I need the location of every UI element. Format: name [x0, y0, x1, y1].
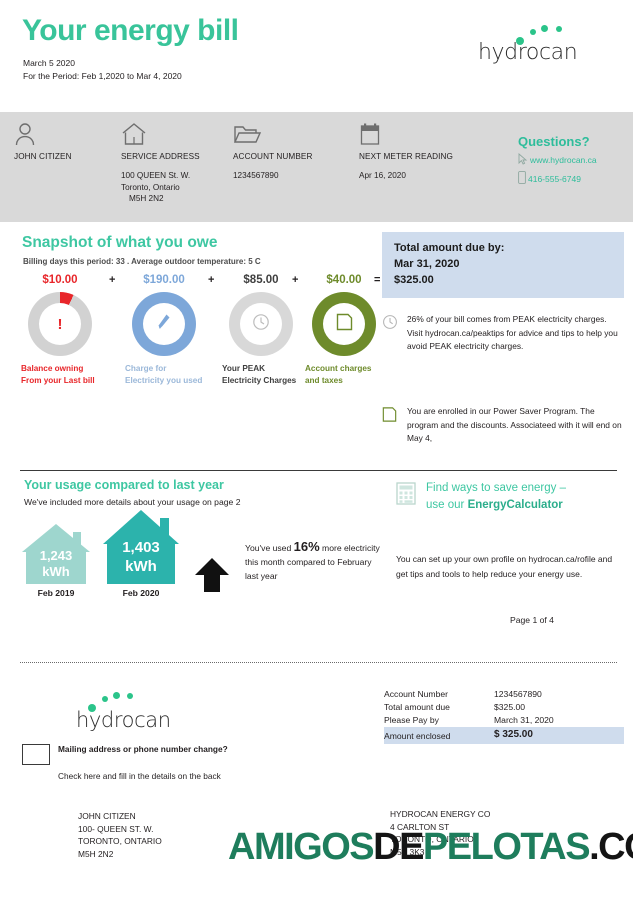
- account-number-column: ACCOUNT NUMBER 1234567890: [233, 122, 313, 182]
- account-number-value: 1234567890: [233, 170, 313, 182]
- service-address-line1: 100 QUEEN St. W.: [121, 170, 200, 182]
- calculator-body-text: You can set up your own profile on hydro…: [396, 552, 621, 581]
- logo-dot-4: [556, 26, 562, 32]
- table-row: Total amount due $325.00: [384, 701, 624, 714]
- customer-name: JOHN CITIZEN: [14, 152, 72, 161]
- address-line: JOHN CITIZEN: [78, 810, 162, 823]
- logo-dot-3: [541, 25, 548, 32]
- service-address-line2: Toronto, Ontario: [121, 182, 200, 194]
- mobile-phone-icon: [518, 171, 526, 186]
- logo-dot-4: [127, 693, 133, 699]
- calculator-line1: Find ways to save energy –: [426, 480, 566, 497]
- charge-item-electricity: $190.00 Charge for Electricity you used: [122, 274, 206, 386]
- house-bar-2019: 1,243 kWh Feb 2019: [18, 522, 94, 600]
- total-due-amount: $325.00: [394, 272, 624, 288]
- charge-label: Balance owning From your Last bill: [18, 363, 102, 386]
- donut-center: [143, 303, 185, 345]
- service-address-line3: M5H 2N2: [121, 193, 200, 205]
- snapshot-title: Snapshot of what you owe: [22, 234, 217, 252]
- service-address-label: SERVICE ADDRESS: [121, 152, 200, 161]
- address-change-checkbox[interactable]: [22, 744, 50, 765]
- row-label: Account Number: [384, 688, 494, 701]
- meter-reading-value: Apr 16, 2020: [359, 170, 453, 182]
- power-saver-note: You are enrolled in our Power Saver Prog…: [382, 405, 624, 446]
- address-change-title: Mailing address or phone number change?: [58, 744, 238, 756]
- peak-note-text: 26% of your bill comes from PEAK electri…: [407, 313, 624, 354]
- logo-wordmark: hydrocan: [478, 40, 577, 65]
- operator-plus-2: +: [208, 274, 214, 286]
- donut-center: [323, 303, 365, 345]
- house-caption-2019: Feb 2019: [18, 588, 94, 598]
- address-change-subtitle: Check here and fill in the details on th…: [58, 771, 243, 783]
- row-value: March 31, 2020: [494, 714, 554, 727]
- charge-label: Your PEAK Electricity Charges: [219, 363, 303, 386]
- hydrocan-logo-stub: hydrocan: [76, 682, 206, 732]
- bill-period: For the Period: Feb 1,2020 to Mar 4, 202…: [23, 71, 182, 81]
- folder-icon: [233, 122, 313, 146]
- operator-plus-3: +: [292, 274, 298, 286]
- home-icon: [121, 122, 200, 146]
- phone-row[interactable]: 416-555-6749: [518, 171, 597, 186]
- bill-date: March 5 2020: [23, 58, 75, 68]
- amount-enclosed-row[interactable]: Amount enclosed $ 325.00: [384, 727, 624, 744]
- account-info-band: JOHN CITIZEN SERVICE ADDRESS 100 QUEEN S…: [0, 112, 633, 222]
- donut-center: [240, 303, 282, 345]
- house-bar-2020: 1,403 kWh Feb 2020: [98, 508, 184, 600]
- row-label: Amount enclosed: [384, 727, 494, 744]
- operator-plus-1: +: [109, 274, 115, 286]
- logo-wordmark-stub: hydrocan: [76, 708, 171, 732]
- row-value: $325.00: [494, 701, 525, 714]
- calculator-name: EnergyCalculator: [468, 499, 563, 511]
- calculator-icon: [396, 480, 416, 510]
- house-value-2020: 1,403: [98, 540, 184, 555]
- total-amount-box: Total amount due by: Mar 31, 2020 $325.0…: [382, 232, 624, 298]
- bill-header: Your energy bill March 5 2020 For the Pe…: [0, 0, 633, 112]
- operator-equals: =: [374, 274, 380, 286]
- charge-amount: $10.00: [18, 274, 102, 290]
- energy-bill-page: Your energy bill March 5 2020 For the Pe…: [0, 0, 633, 897]
- logo-dot-3: [113, 692, 120, 699]
- cursor-icon: [518, 153, 528, 167]
- meter-reading-column: NEXT METER READING Apr 16, 2020: [359, 122, 453, 182]
- house-unit-2019: kWh: [18, 564, 94, 579]
- snapshot-subtitle: Billing days this period: 33 . Average o…: [23, 257, 261, 266]
- up-arrow-icon: [192, 557, 232, 598]
- usage-title: Your usage compared to last year: [24, 478, 224, 492]
- service-address-column: SERVICE ADDRESS 100 QUEEN St. W. Toronto…: [121, 122, 200, 205]
- document-icon: [336, 313, 353, 336]
- questions-title: Questions?: [518, 134, 597, 149]
- phone-number[interactable]: 416-555-6749: [528, 174, 581, 184]
- charge-breakdown: $10.00 ! Balance owning From your Last b…: [12, 274, 372, 454]
- watermark-part-3: PELOTAS: [423, 826, 589, 868]
- charge-label: Account charges and taxes: [302, 363, 386, 386]
- row-label: Total amount due: [384, 701, 494, 714]
- customer-column: JOHN CITIZEN: [14, 122, 72, 161]
- logo-dot-2: [102, 696, 108, 702]
- exclamation-icon: !: [58, 316, 63, 333]
- donut-chart-account: [312, 292, 376, 356]
- donut-center: !: [39, 303, 81, 345]
- questions-block: Questions? www.hydrocan.ca 416-555-6749: [518, 134, 597, 186]
- calculator-line2-pre: use our: [426, 499, 468, 511]
- calculator-line2: use our EnergyCalculator: [426, 497, 566, 514]
- website-link[interactable]: www.hydrocan.ca: [530, 155, 597, 165]
- address-line: HYDROCAN ENERGY CO: [390, 808, 490, 821]
- charge-item-account: $40.00 Account charges and taxes: [302, 274, 386, 386]
- row-label: Please Pay by: [384, 714, 494, 727]
- address-line: M5H 2N2: [78, 848, 162, 861]
- row-value: $ 325.00: [494, 727, 533, 744]
- total-due-date: Mar 31, 2020: [394, 256, 624, 272]
- page-title: Your energy bill: [22, 14, 239, 48]
- peak-note: 26% of your bill comes from PEAK electri…: [382, 313, 624, 354]
- usage-note-pre: You've used: [245, 543, 294, 553]
- calendar-icon: [359, 122, 453, 146]
- house-value-2019: 1,243: [18, 548, 94, 563]
- donut-chart-peak: [229, 292, 293, 356]
- website-row[interactable]: www.hydrocan.ca: [518, 153, 597, 167]
- usage-section: Your usage compared to last year We've i…: [0, 470, 633, 650]
- table-row: Please Pay by March 31, 2020: [384, 714, 624, 727]
- charge-item-balance: $10.00 ! Balance owning From your Last b…: [18, 274, 102, 386]
- tear-off-divider: [20, 662, 617, 663]
- address-line: TORONTO, ONTARIO: [78, 835, 162, 848]
- power-saver-note-text: You are enrolled in our Power Saver Prog…: [407, 405, 624, 446]
- donut-chart-balance: !: [28, 292, 92, 356]
- logo-dot-2: [530, 29, 536, 35]
- charge-label: Charge for Electricity you used: [122, 363, 206, 386]
- charge-amount: $190.00: [122, 274, 206, 290]
- usage-comparison-note: You've used 16% more electricity this mo…: [245, 540, 385, 583]
- usage-note-percent: 16%: [294, 539, 320, 554]
- total-due-label: Total amount due by:: [394, 240, 624, 256]
- page-number: Page 1 of 4: [510, 615, 554, 625]
- document-icon: [382, 405, 398, 446]
- watermark-part-1: AMIGOS: [228, 826, 373, 868]
- payment-summary-table: Account Number 1234567890 Total amount d…: [384, 688, 624, 744]
- table-row: Account Number 1234567890: [384, 688, 624, 701]
- row-value: 1234567890: [494, 688, 542, 701]
- charge-amount: $85.00: [219, 274, 303, 290]
- clock-icon: [252, 313, 270, 336]
- stub-customer-address: JOHN CITIZEN 100- QUEEN ST. W. TORONTO, …: [78, 810, 162, 860]
- house-caption-2020: Feb 2020: [98, 588, 184, 598]
- energy-calculator-block[interactable]: Find ways to save energy – use our Energ…: [396, 480, 626, 514]
- account-number-label: ACCOUNT NUMBER: [233, 152, 313, 161]
- plug-icon: [155, 312, 173, 337]
- person-icon: [14, 122, 72, 146]
- watermark-part-2: DE: [373, 826, 423, 868]
- charge-item-peak: $85.00 Your PEAK Electricity Charges: [219, 274, 303, 386]
- hydrocan-logo: hydrocan: [478, 13, 598, 65]
- house-unit-2020: kWh: [98, 559, 184, 574]
- address-line: 100- QUEEN ST. W.: [78, 823, 162, 836]
- usage-subtitle: We've included more details about your u…: [24, 497, 240, 507]
- clock-icon: [382, 313, 398, 354]
- donut-chart-electricity: [132, 292, 196, 356]
- watermark: AMIGOSDEPELOTAS.COM: [228, 826, 633, 869]
- meter-reading-label: NEXT METER READING: [359, 152, 453, 161]
- watermark-part-4: .COM: [589, 826, 633, 868]
